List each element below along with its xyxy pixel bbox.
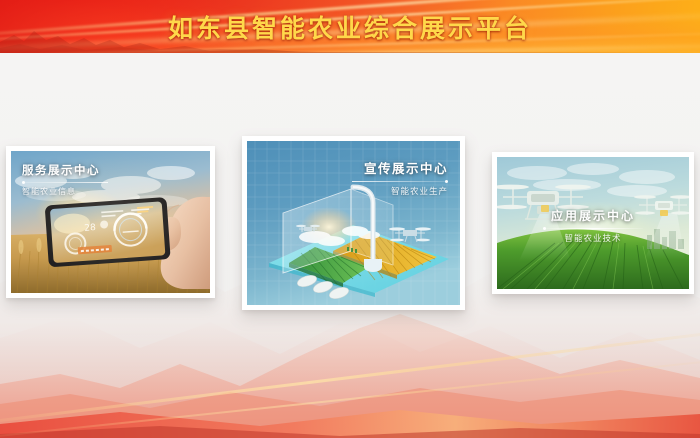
divider-dot — [445, 180, 448, 183]
caption-promotion: 宣传展示中心 智能农业生产 — [352, 158, 448, 197]
caption-application: 应用展示中心 智能农业技术 — [543, 207, 643, 244]
card-title-promotion: 宣传展示中心 — [352, 158, 448, 177]
card-subtitle-application: 智能农业技术 — [543, 232, 643, 244]
caption-divider — [543, 228, 643, 229]
card-subtitle-service: 智能农业信息 — [22, 186, 108, 197]
divider-dot — [543, 227, 546, 230]
card-promotion-display-center[interactable]: 宣传展示中心 智能农业生产 — [242, 136, 465, 310]
card-subtitle-promotion: 智能农业生产 — [352, 185, 448, 197]
card-title-application: 应用展示中心 — [543, 207, 643, 224]
caption-service: 服务展示中心 智能农业信息 — [22, 162, 108, 197]
divider-dot — [22, 181, 25, 184]
header-banner: 如东县智能农业综合展示平台 — [0, 0, 700, 53]
card-application-display-center[interactable]: 应用展示中心 智能农业技术 — [492, 152, 694, 294]
page-title: 如东县智能农业综合展示平台 — [0, 0, 700, 53]
card-service-display-center[interactable]: 28 服务展示中心 智能农业信息 — [6, 146, 215, 298]
caption-divider — [22, 182, 108, 183]
caption-divider — [352, 181, 448, 182]
card-title-service: 服务展示中心 — [22, 162, 108, 178]
